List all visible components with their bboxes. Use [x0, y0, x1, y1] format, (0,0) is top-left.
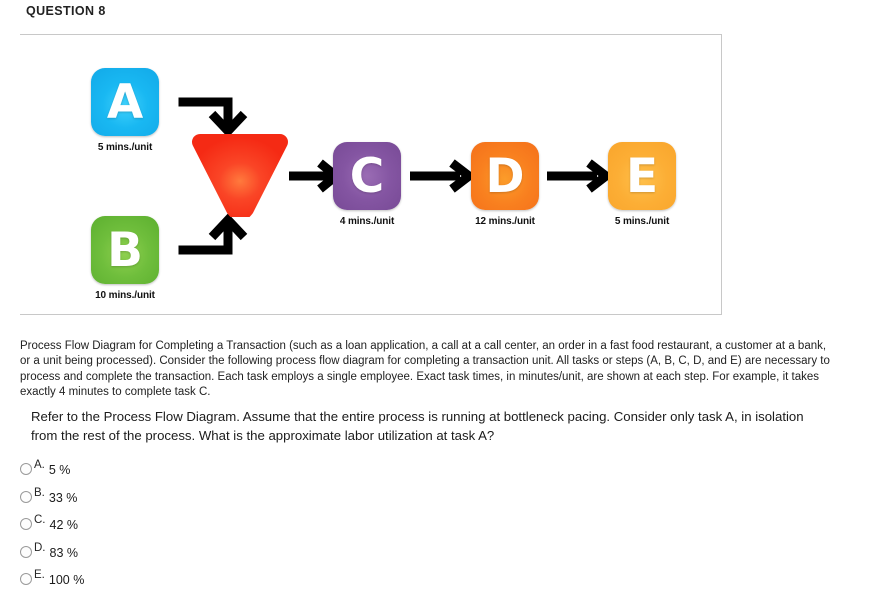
node-e: E 5 mins./unit [608, 142, 697, 227]
option-c[interactable]: C. 42 % [21, 514, 421, 542]
process-flow-diagram: A 5 mins./unit B 10 mins./unit C 4 mins.… [20, 35, 722, 316]
connector-a-to-merge [183, 102, 244, 131]
node-d-box: D [471, 142, 539, 210]
node-a-letter: A [107, 79, 143, 126]
node-d-letter: D [485, 153, 524, 200]
diagram-panel: A 5 mins./unit B 10 mins./unit C 4 mins.… [20, 34, 722, 315]
option-b[interactable]: B. 33 % [21, 487, 421, 515]
connector-merge-to-c [289, 163, 336, 189]
answer-options: A. 5 % B. 33 % C. 42 % D. 83 % E. 100 % [21, 459, 421, 597]
page-title: QUESTION 8 [26, 4, 106, 18]
radio-icon-a[interactable] [20, 463, 32, 475]
option-e-letter: E. [34, 569, 45, 582]
diagram-description: Process Flow Diagram for Completing a Tr… [20, 339, 838, 400]
option-d-letter: D. [34, 542, 46, 555]
node-c-letter: C [350, 153, 385, 200]
radio-icon-e[interactable] [20, 573, 32, 585]
node-b: B 10 mins./unit [91, 216, 180, 301]
node-c-time-label: 4 mins./unit [312, 216, 422, 227]
node-a: A 5 mins./unit [91, 68, 180, 153]
option-a[interactable]: A. 5 % [21, 459, 421, 487]
node-b-time-label: 10 mins./unit [70, 290, 180, 301]
option-c-letter: C. [34, 514, 46, 527]
question-stem: Refer to the Process Flow Diagram. Assum… [31, 408, 831, 445]
option-d-value: 83 % [50, 547, 79, 560]
option-c-value: 42 % [50, 519, 79, 532]
node-e-time-label: 5 mins./unit [587, 216, 697, 227]
option-b-letter: B. [34, 487, 45, 500]
option-e[interactable]: E. 100 % [21, 569, 421, 597]
node-d: D 12 mins./unit [471, 142, 560, 227]
option-a-letter: A. [34, 459, 45, 472]
node-e-letter: E [626, 153, 658, 200]
radio-icon-b[interactable] [20, 491, 32, 503]
option-b-value: 33 % [49, 492, 78, 505]
node-c: C 4 mins./unit [333, 142, 422, 227]
radio-icon-d[interactable] [20, 546, 32, 558]
node-c-box: C [333, 142, 401, 210]
option-d[interactable]: D. 83 % [21, 542, 421, 570]
node-a-box: A [91, 68, 159, 136]
node-d-time-label: 12 mins./unit [450, 216, 560, 227]
node-e-box: E [608, 142, 676, 210]
node-b-letter: B [107, 227, 143, 274]
inverted-triangle-icon [191, 133, 289, 217]
option-a-value: 5 % [49, 464, 71, 477]
node-b-box: B [91, 216, 159, 284]
connector-b-to-merge [183, 220, 244, 250]
option-e-value: 100 % [49, 574, 84, 587]
merge-triangle-node [191, 133, 289, 217]
radio-icon-c[interactable] [20, 518, 32, 530]
node-a-time-label: 5 mins./unit [70, 142, 180, 153]
